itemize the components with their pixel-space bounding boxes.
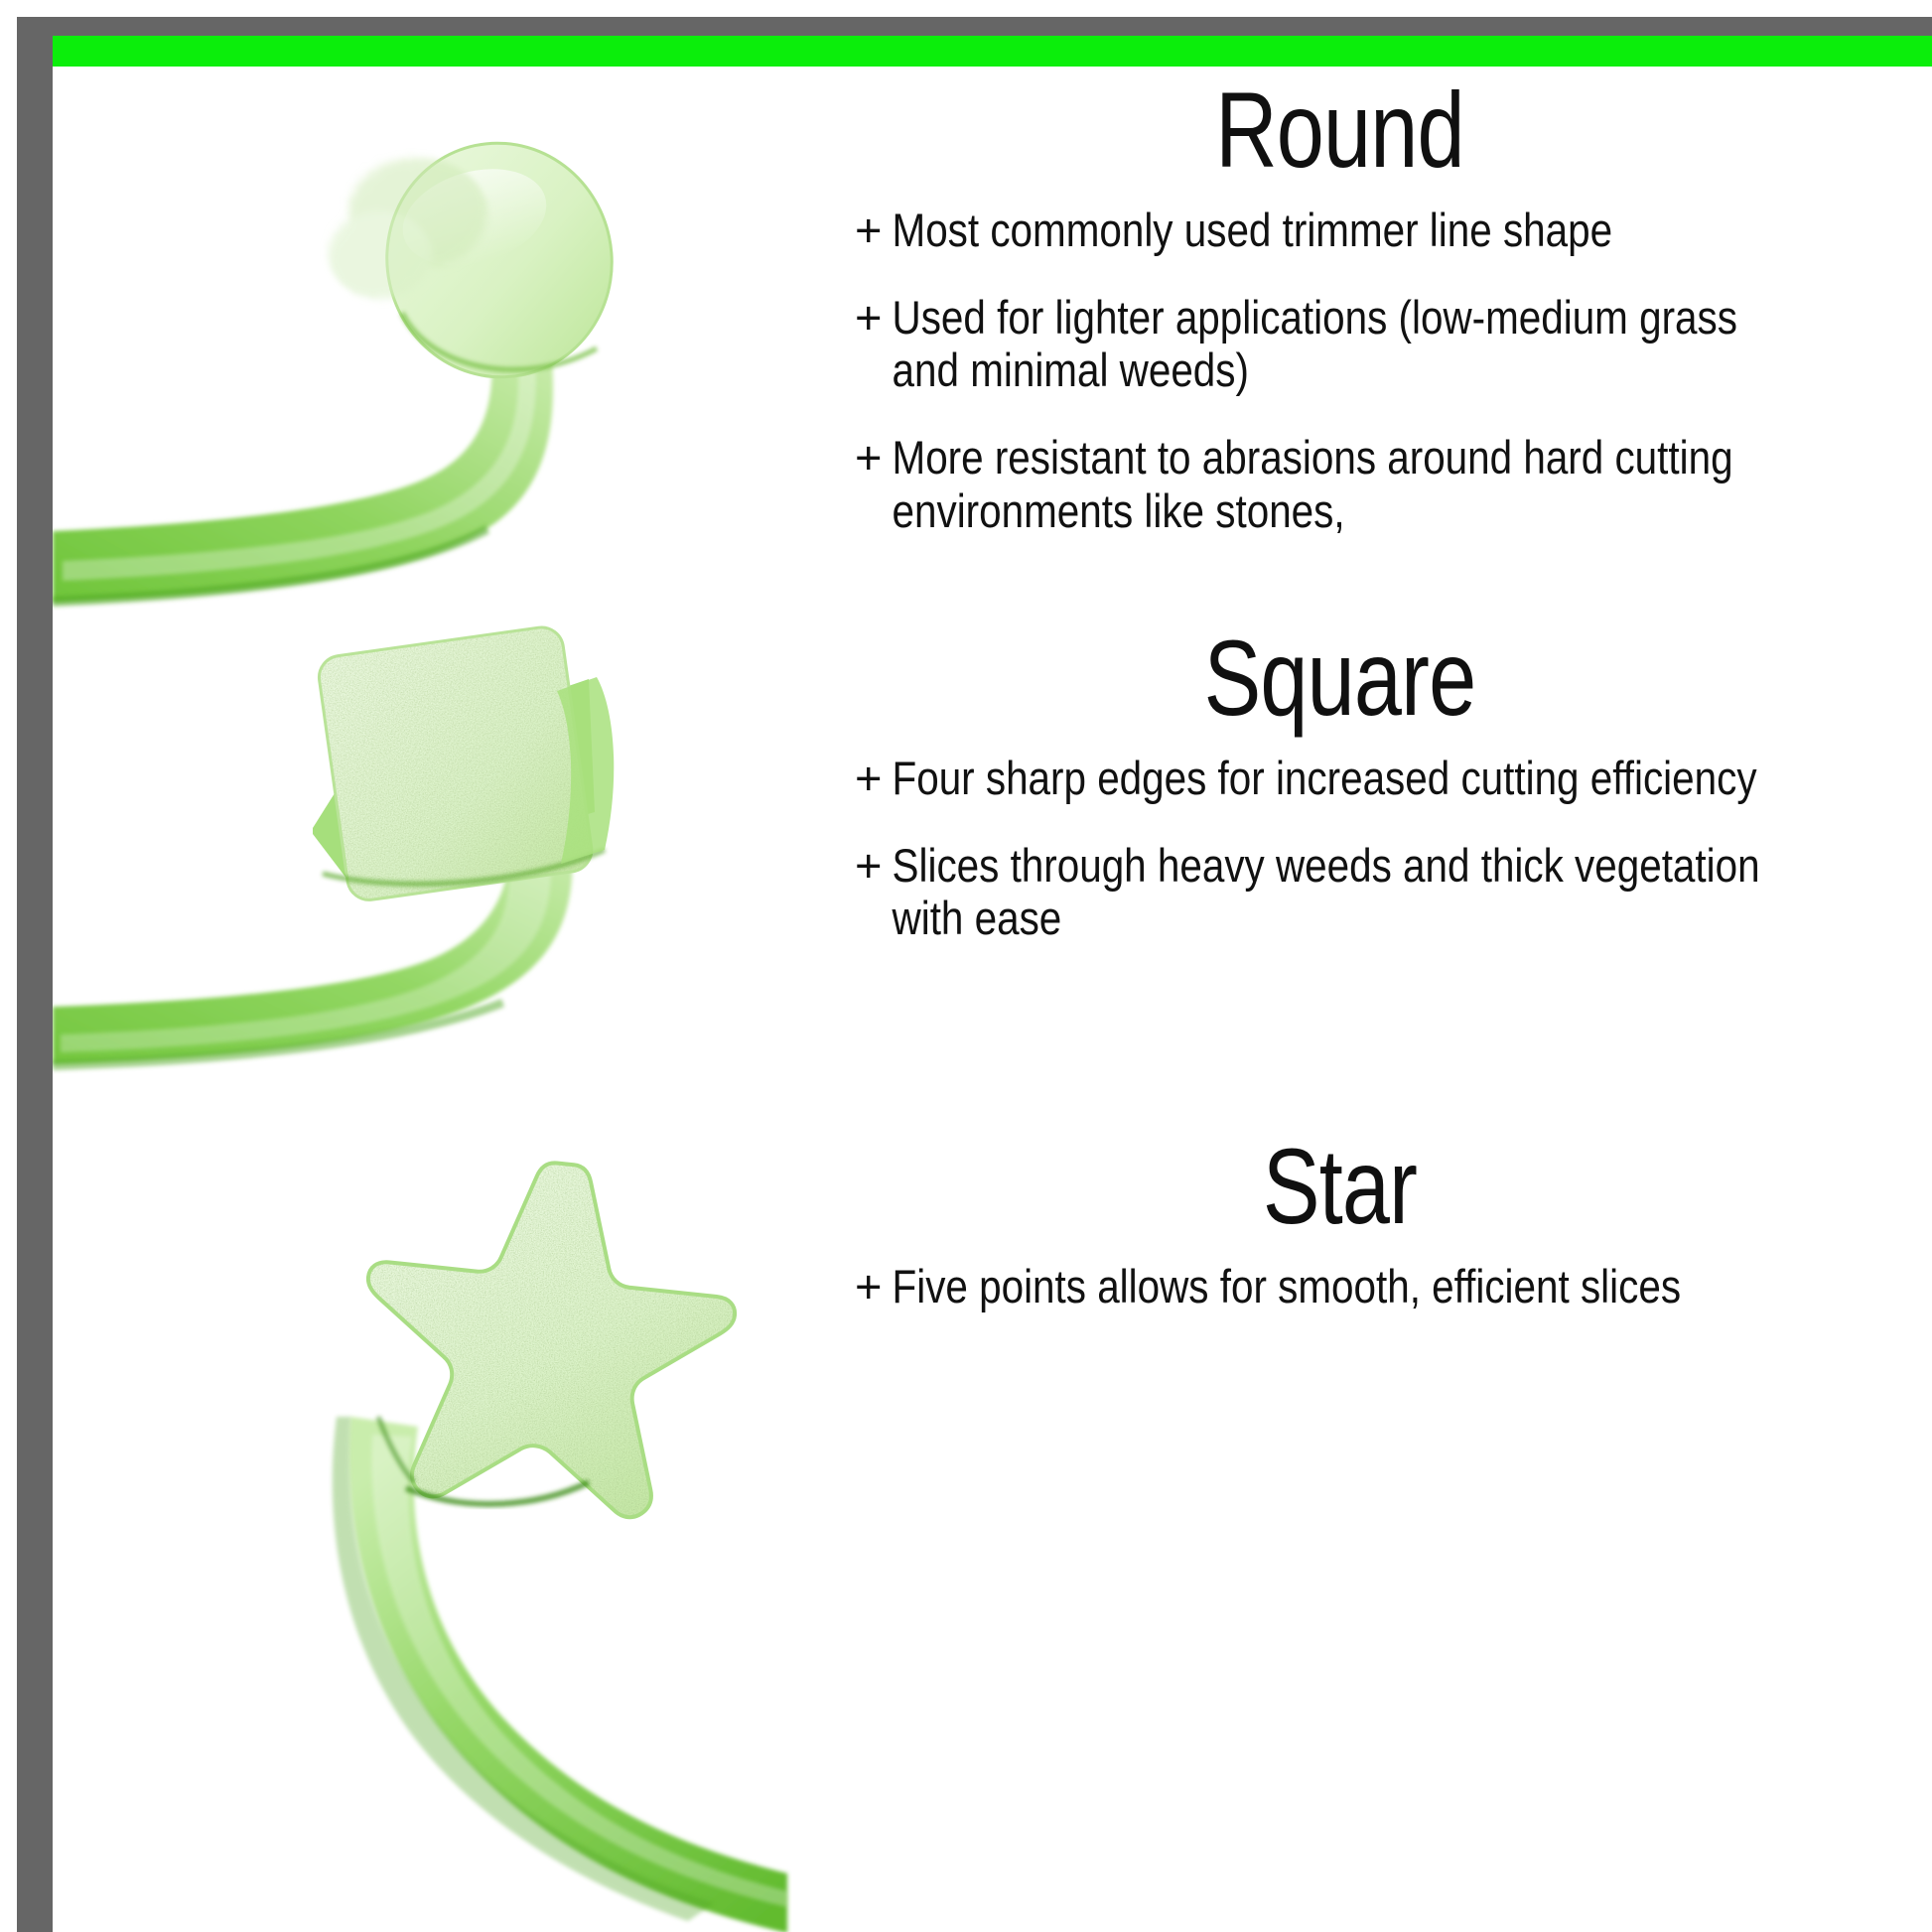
section-square: Square + Four sharp edges for increased … xyxy=(748,622,1932,945)
bullet-text: Slices through heavy weeds and thick veg… xyxy=(865,839,1783,945)
star-trimmer-line-icon xyxy=(53,1119,807,1932)
list-item: + More resistant to abrasions around har… xyxy=(748,431,1932,537)
bullet-list-square: + Four sharp edges for increased cutting… xyxy=(748,752,1932,945)
section-star: Star + Five points allows for smooth, ef… xyxy=(748,1131,1932,1313)
infographic-poster: Round + Most commonly used trimmer line … xyxy=(0,0,1932,1932)
list-item: + Most commonly used trimmer line shape xyxy=(748,204,1932,257)
bullet-list-star: + Five points allows for smooth, efficie… xyxy=(748,1260,1932,1313)
text-column: Round + Most commonly used trimmer line … xyxy=(748,67,1932,1932)
section-title-round: Round xyxy=(866,74,1813,186)
bullet-list-round: + Most commonly used trimmer line shape … xyxy=(748,204,1932,537)
list-item: + Four sharp edges for increased cutting… xyxy=(748,752,1932,805)
bullet-text: Four sharp edges for increased cutting e… xyxy=(865,752,1783,805)
round-trimmer-line-icon xyxy=(53,106,807,622)
list-item: + Slices through heavy weeds and thick v… xyxy=(748,839,1932,945)
bullet-text: Most commonly used trimmer line shape xyxy=(865,204,1783,257)
section-title-star: Star xyxy=(866,1131,1813,1242)
square-trimmer-line-icon xyxy=(53,618,807,1074)
bullet-text: More resistant to abrasions around hard … xyxy=(865,431,1783,537)
list-item: + Used for lighter applications (low-med… xyxy=(748,291,1932,397)
list-item: + Five points allows for smooth, efficie… xyxy=(748,1260,1932,1313)
poster-canvas: Round + Most commonly used trimmer line … xyxy=(53,67,1932,1932)
section-title-square: Square xyxy=(866,622,1813,734)
bullet-text: Used for lighter applications (low-mediu… xyxy=(865,291,1783,397)
bullet-text: Five points allows for smooth, efficient… xyxy=(865,1260,1783,1313)
section-round: Round + Most commonly used trimmer line … xyxy=(748,74,1932,537)
